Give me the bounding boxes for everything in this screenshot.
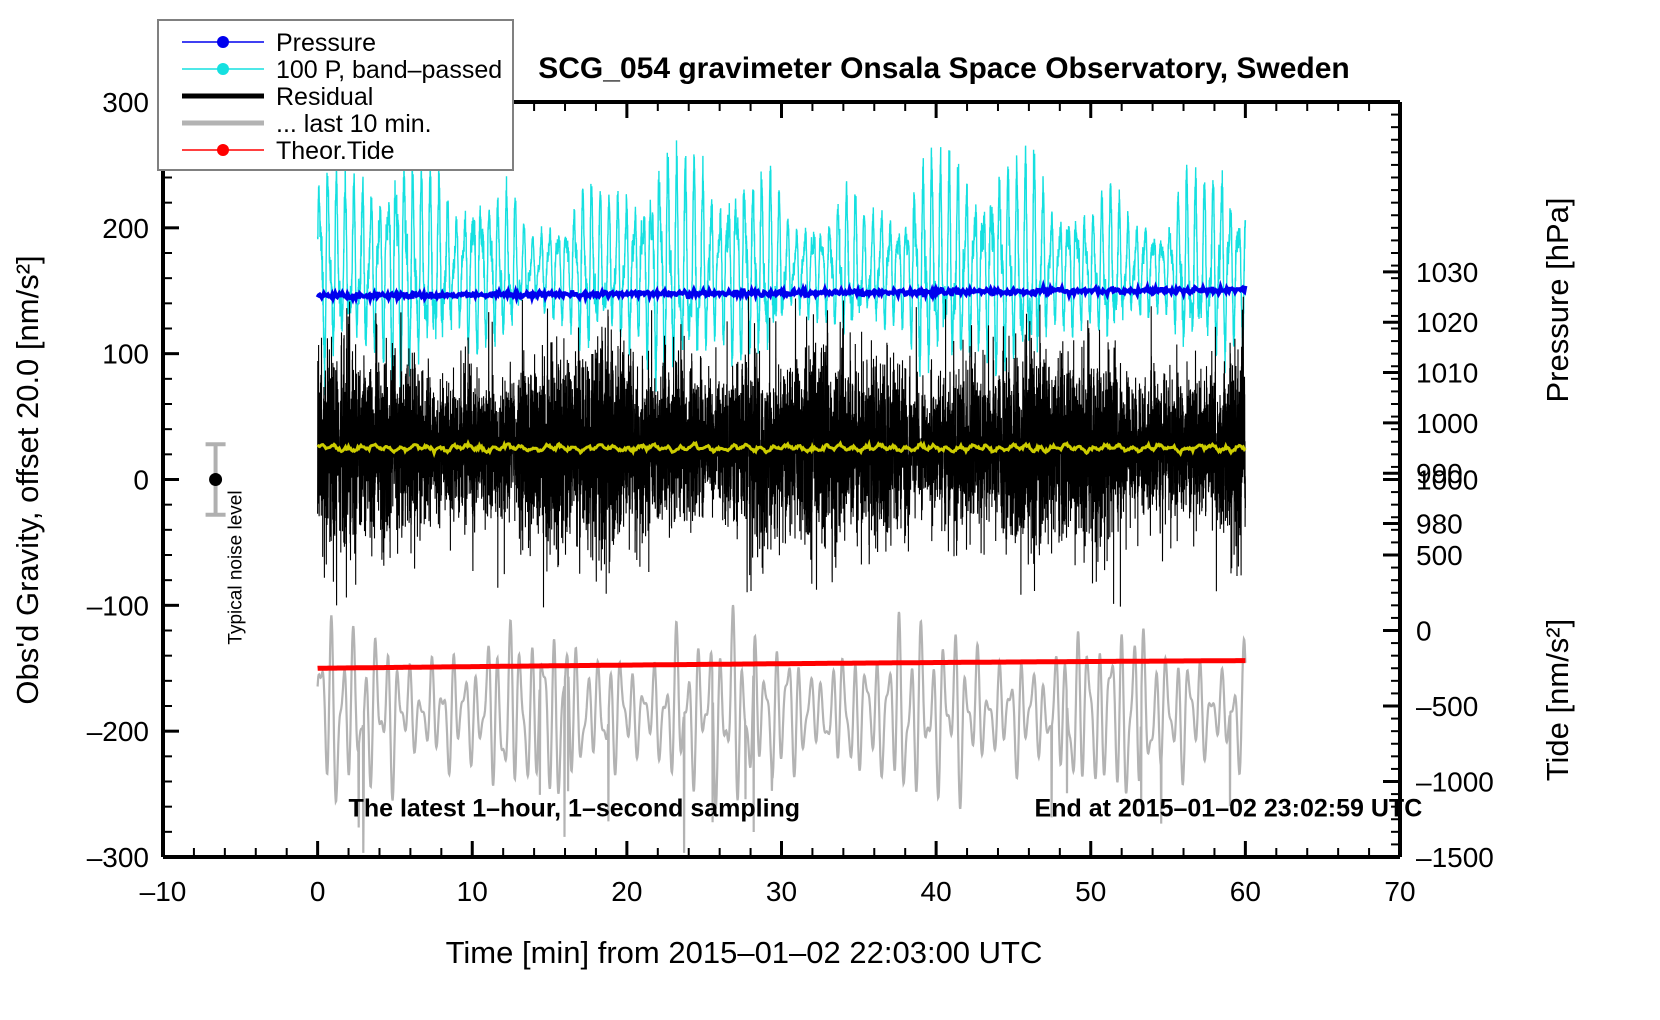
legend-label: ... last 10 min.: [276, 110, 432, 138]
legend-marker-icon: [217, 144, 229, 156]
page-title: SCG_054 gravimeter Onsala Space Observat…: [538, 52, 1350, 85]
legend-label: 100 P, band–passed: [276, 56, 502, 84]
right-pressure-axis-title: Pressure [hPa]: [1540, 197, 1575, 402]
gravimeter-timeseries-chart: –10010203040506070–300–200–1000100200300…: [0, 0, 1660, 1020]
right-pressure-tick-label: 1000: [1416, 408, 1478, 439]
y-axis-title: Obs'd Gravity, offset 20.0 [nm/s²]: [10, 255, 45, 704]
right-pressure-tick-label: 1020: [1416, 307, 1478, 338]
x-tick-label: 70: [1384, 876, 1415, 907]
noise-level-label: Typical noise level: [226, 490, 247, 644]
legend-label: Theor.Tide: [276, 137, 395, 165]
right-tide-tick-label: 0: [1416, 616, 1432, 647]
legend-marker-icon: [217, 63, 229, 75]
legend[interactable]: Pressure100 P, band–passedResidual... la…: [158, 20, 513, 170]
end-time-note: End at 2015–01–02 23:02:59 UTC: [1035, 795, 1423, 823]
x-tick-label: 60: [1230, 876, 1261, 907]
y-tick-label: 0: [133, 465, 149, 496]
x-tick-label: –10: [140, 876, 187, 907]
x-tick-label: 30: [766, 876, 797, 907]
legend-marker-icon: [217, 36, 229, 48]
right-tide-tick-label: 500: [1416, 540, 1463, 571]
y-tick-label: –100: [87, 590, 149, 621]
y-tick-label: 300: [102, 87, 149, 118]
right-tide-tick-label: –1500: [1416, 842, 1494, 873]
x-tick-label: 20: [611, 876, 642, 907]
x-tick-label: 0: [310, 876, 326, 907]
y-tick-label: –200: [87, 716, 149, 747]
right-tide-axis-title: Tide [nm/s²]: [1540, 619, 1575, 782]
x-tick-label: 10: [457, 876, 488, 907]
x-tick-label: 40: [921, 876, 952, 907]
sampling-note: The latest 1–hour, 1–second sampling: [349, 795, 801, 823]
right-tide-tick-label: –500: [1416, 691, 1478, 722]
right-tide-tick-label: –1000: [1416, 767, 1494, 798]
legend-label: Pressure: [276, 29, 376, 57]
x-axis-title: Time [min] from 2015–01–02 22:03:00 UTC: [446, 935, 1043, 970]
y-tick-label: 100: [102, 339, 149, 370]
x-tick-label: 50: [1075, 876, 1106, 907]
legend-label: Residual: [276, 83, 373, 111]
y-tick-label: 200: [102, 213, 149, 244]
right-tide-tick-label: 1000: [1416, 465, 1478, 496]
right-pressure-tick-label: 1030: [1416, 257, 1478, 288]
chart-page: –10010203040506070–300–200–1000100200300…: [0, 0, 1660, 1020]
right-pressure-tick-label: 1010: [1416, 358, 1478, 389]
y-tick-label: –300: [87, 842, 149, 873]
right-pressure-tick-label: 980: [1416, 509, 1463, 540]
